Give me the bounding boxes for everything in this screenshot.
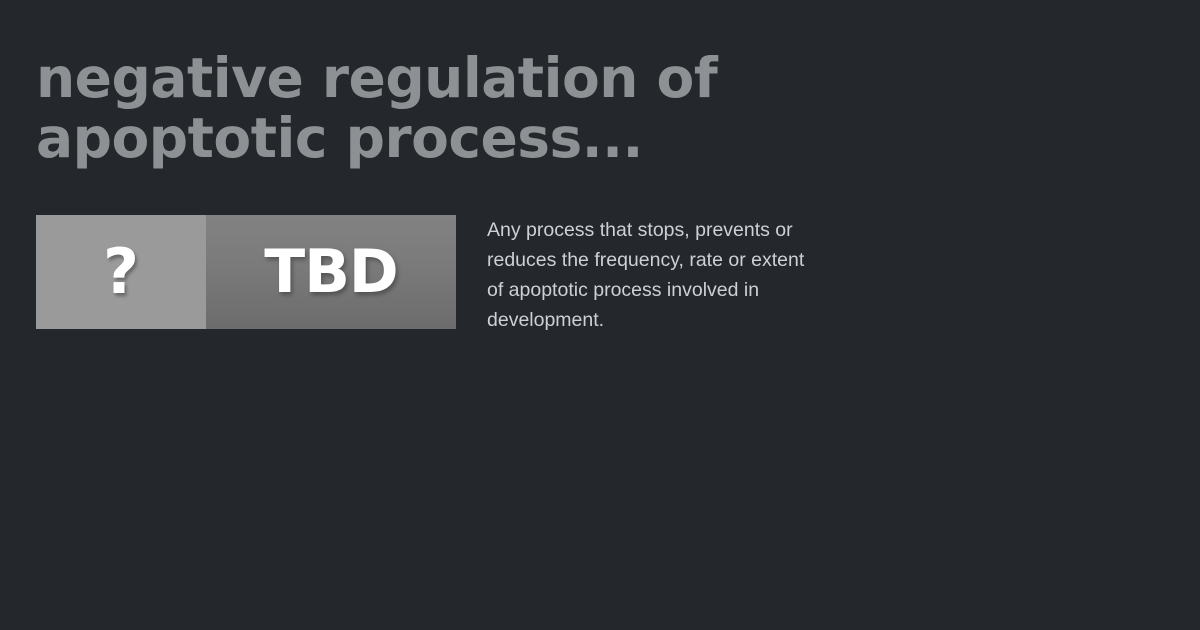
question-mark-icon: ? — [103, 241, 139, 303]
description-text: Any process that stops, prevents or redu… — [487, 215, 817, 335]
page-title: negative regulation of apoptotic process… — [36, 48, 856, 168]
thumbnail-left-panel: ? — [36, 215, 206, 329]
content-row: ? TBD Any process that stops, prevents o… — [36, 215, 1166, 335]
thumbnail-placeholder: ? TBD — [36, 215, 456, 329]
thumbnail-right-panel: TBD — [206, 215, 456, 329]
og-preview-card: negative regulation of apoptotic process… — [0, 0, 1200, 630]
thumbnail-tbd-label: TBD — [264, 242, 397, 302]
